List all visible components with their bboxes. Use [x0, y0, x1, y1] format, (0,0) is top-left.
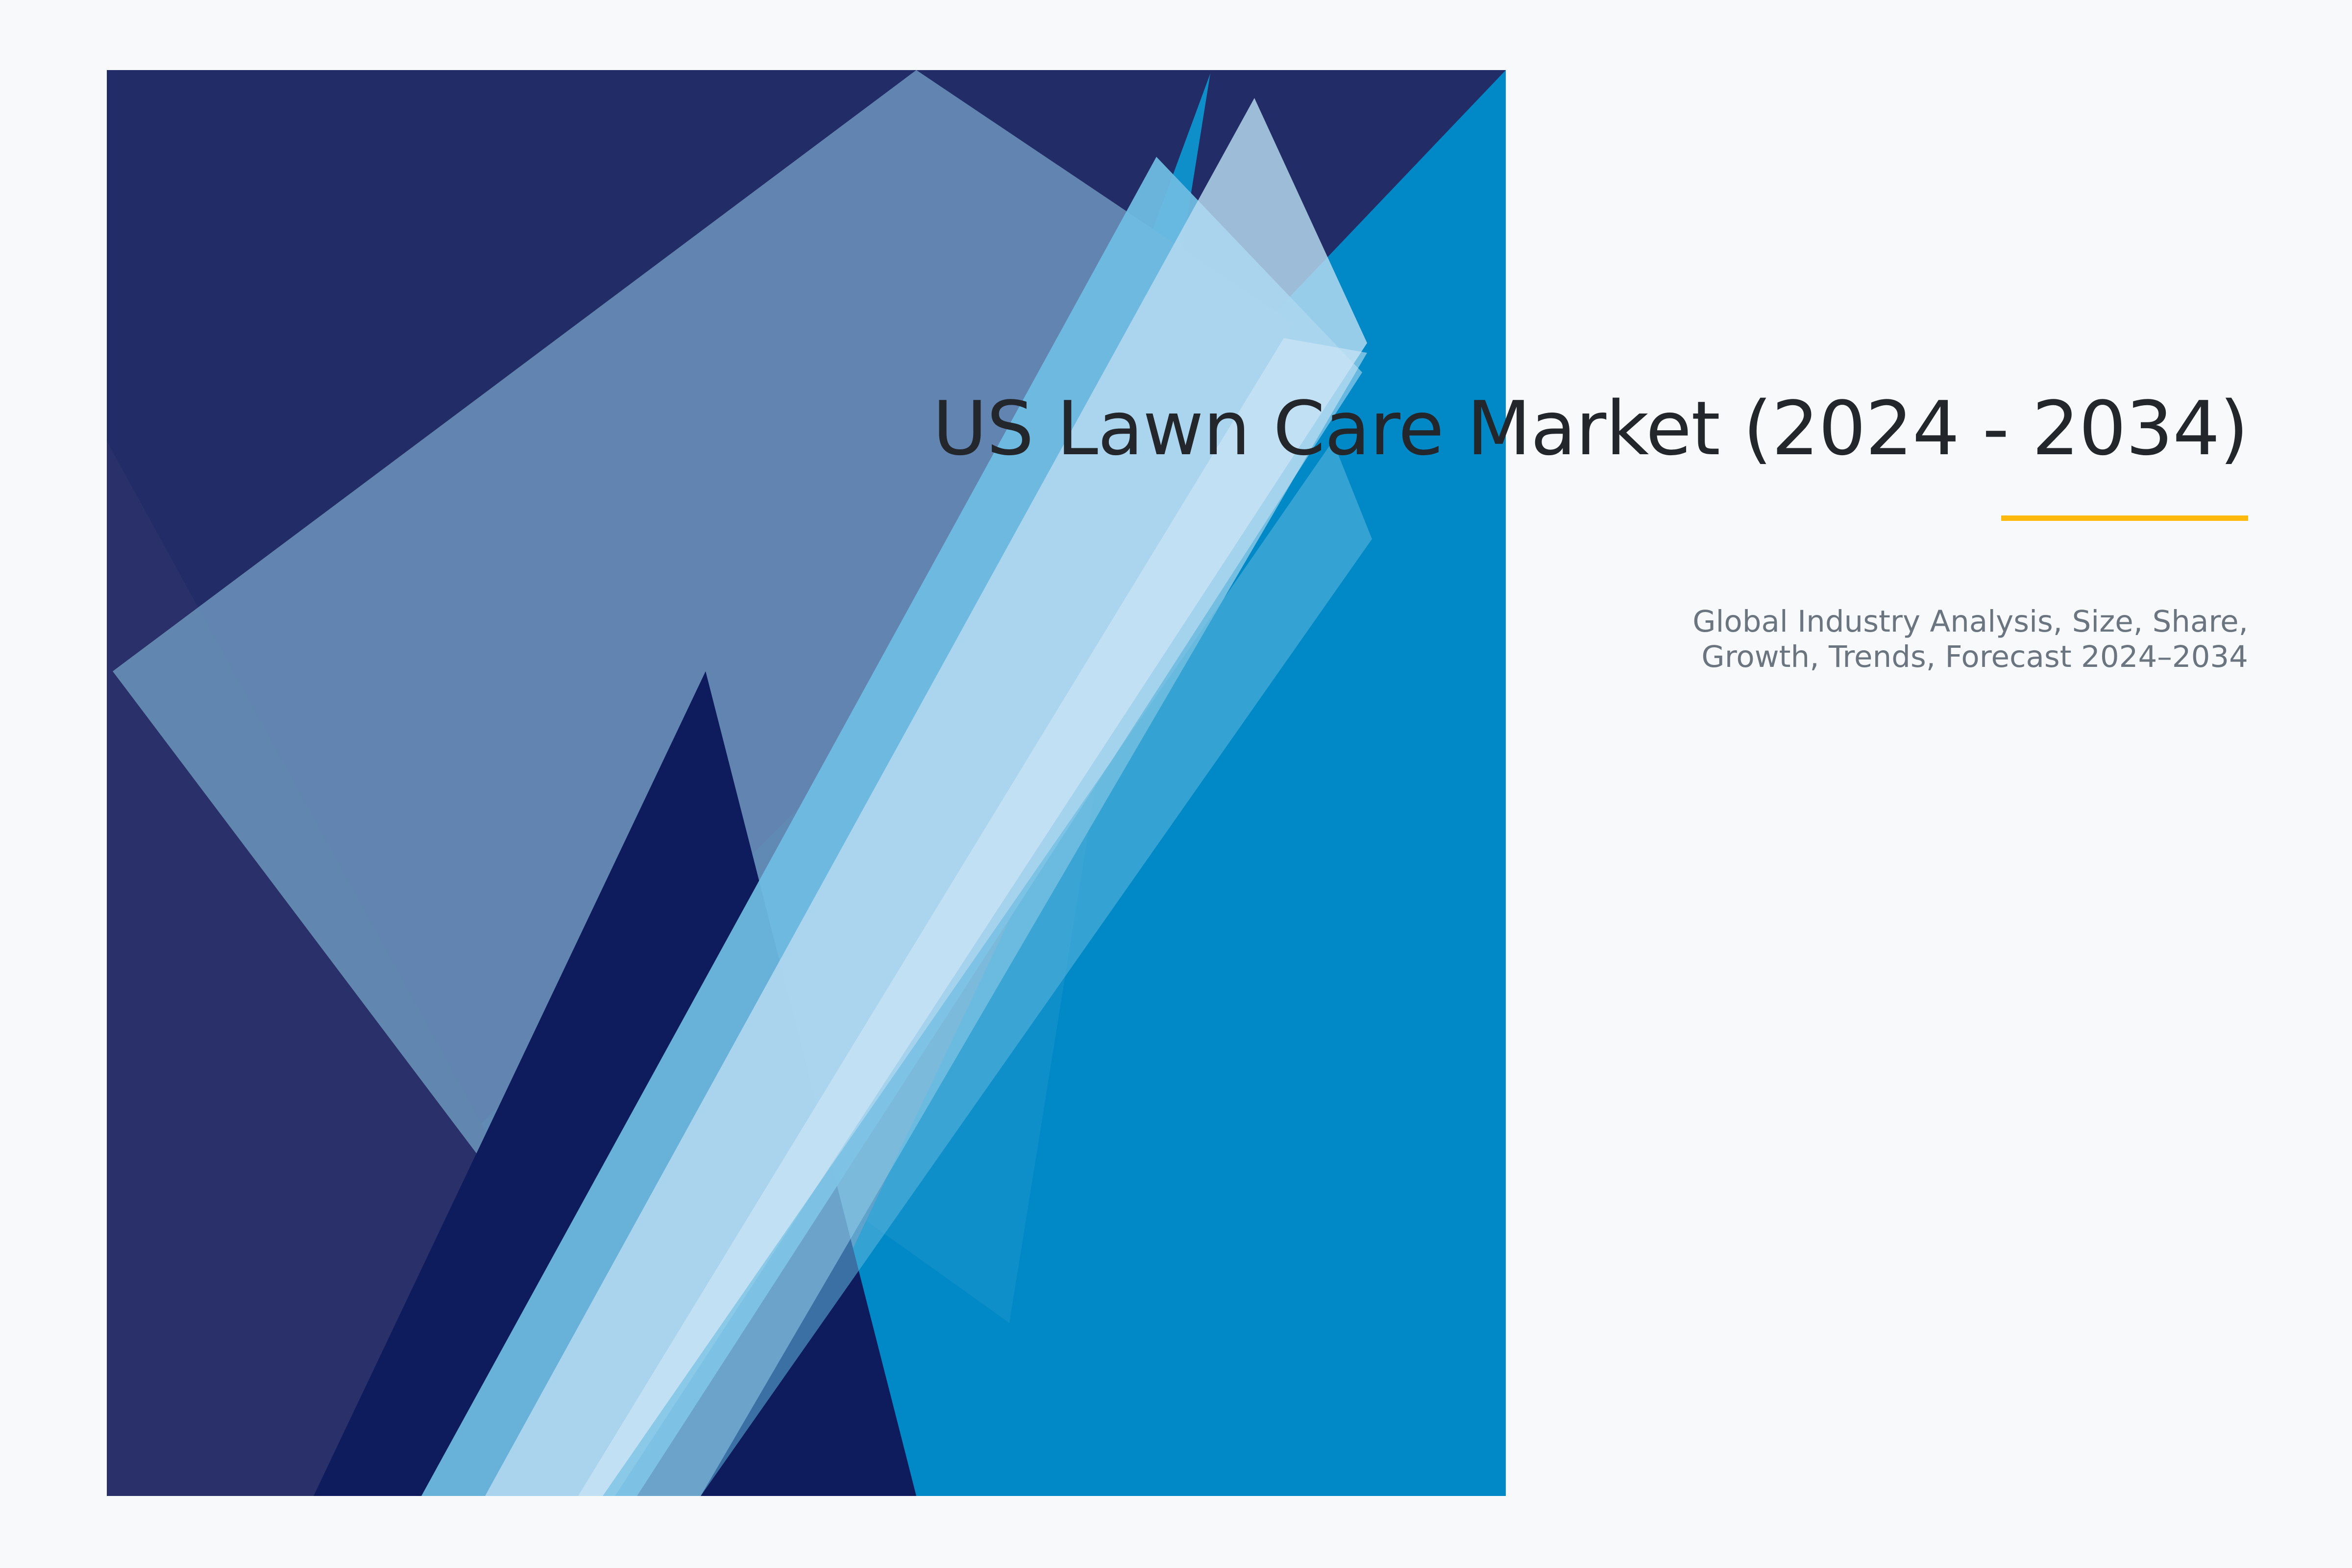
page-title: US Lawn Care Market (2024 - 2034)	[778, 387, 2248, 470]
report-cover-slide: US Lawn Care Market (2024 - 2034) Global…	[0, 0, 2352, 1568]
page-subtitle: Global Industry Analysis, Size, Share, G…	[778, 604, 2248, 675]
title-underline-wrap	[778, 515, 2248, 521]
page-subtitle-line-1: Global Industry Analysis, Size, Share,	[778, 604, 2248, 639]
title-underline	[2001, 515, 2248, 521]
abstract-polygon-graphic	[0, 0, 2352, 1568]
page-subtitle-line-2: Growth, Trends, Forecast 2024–2034	[778, 639, 2248, 675]
cover-text-block: US Lawn Care Market (2024 - 2034) Global…	[778, 387, 2248, 675]
